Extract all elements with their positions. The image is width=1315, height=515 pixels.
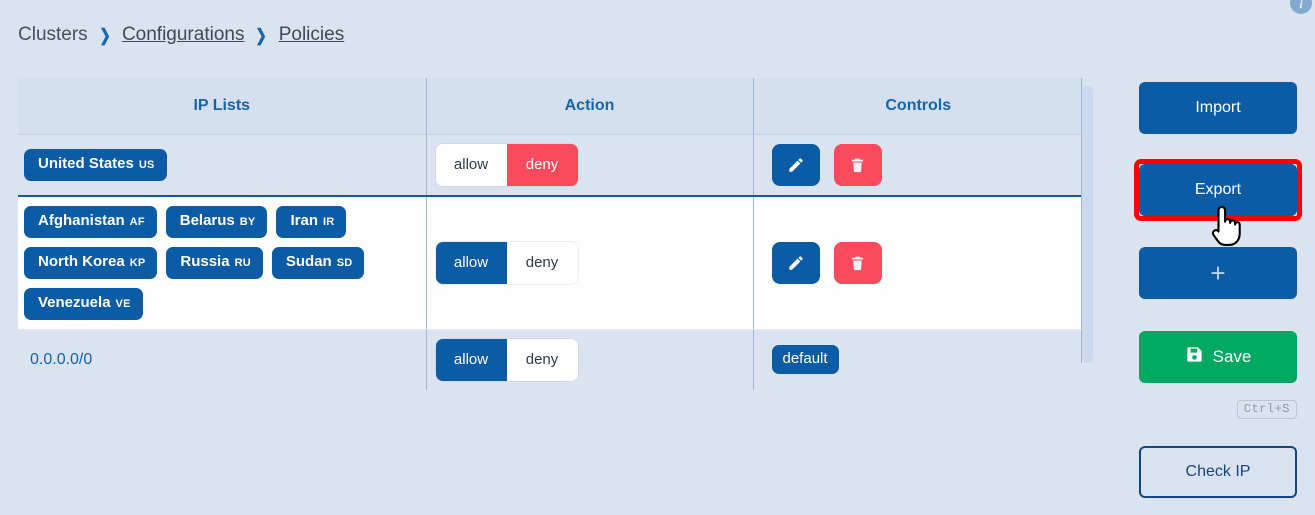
- country-chip[interactable]: BelarusBY: [166, 206, 268, 238]
- country-chip[interactable]: United StatesUS: [24, 149, 167, 181]
- country-chip[interactable]: AfghanistanAF: [24, 206, 157, 238]
- country-chip-name: Afghanistan: [38, 212, 125, 230]
- check-ip-slot: Check IP: [1139, 446, 1297, 498]
- action-allow-option[interactable]: allow: [436, 144, 507, 186]
- default-badge: default: [772, 345, 839, 374]
- action-allow-option[interactable]: allow: [436, 242, 507, 284]
- action-allow-option[interactable]: allow: [436, 339, 507, 381]
- table-row[interactable]: AfghanistanAF BelarusBY IranIR North Kor…: [18, 196, 1083, 330]
- country-chip-name: United States: [38, 155, 134, 173]
- save-slot: Save: [1139, 331, 1297, 383]
- breadcrumb-item-configurations[interactable]: Configurations: [122, 24, 245, 46]
- country-chip[interactable]: VenezuelaVE: [24, 288, 143, 320]
- ip-list-chips: AfghanistanAF BelarusBY IranIR North Kor…: [24, 206, 414, 320]
- add-slot: +: [1139, 247, 1297, 299]
- country-chip[interactable]: SudanSD: [272, 247, 365, 279]
- save-shortcut-hint: Ctrl+S: [1237, 400, 1297, 419]
- row-controls: [772, 242, 1084, 284]
- action-deny-option[interactable]: deny: [507, 242, 578, 284]
- row-controls: [772, 144, 1084, 186]
- trash-icon: [849, 156, 866, 174]
- country-chip-name: Belarus: [180, 212, 235, 230]
- breadcrumb: Clusters ❯ Configurations ❯ Policies: [18, 20, 344, 50]
- country-chip[interactable]: North KoreaKP: [24, 247, 157, 279]
- action-deny-option[interactable]: deny: [507, 144, 578, 186]
- save-button[interactable]: Save: [1139, 331, 1297, 383]
- cell-action: allow deny: [426, 196, 753, 330]
- country-chip-name: Russia: [180, 253, 229, 271]
- country-chip-code: IR: [323, 213, 334, 231]
- country-chip-name: Sudan: [286, 253, 332, 271]
- cell-ip-lists: United StatesUS: [18, 134, 426, 196]
- policies-table-container: IP Lists Action Controls United StatesUS: [18, 78, 1083, 363]
- table-header: IP Lists Action Controls: [18, 78, 1083, 134]
- cell-controls: default: [753, 329, 1083, 390]
- cell-ip-lists: 0.0.0.0/0: [18, 329, 426, 390]
- floppy-disk-icon: [1185, 345, 1204, 369]
- country-chip-code: RU: [235, 254, 251, 272]
- breadcrumb-item-clusters[interactable]: Clusters: [18, 24, 88, 46]
- cell-action: allow deny: [426, 134, 753, 196]
- country-chip-name: Venezuela: [38, 294, 111, 312]
- trash-icon: [849, 254, 866, 272]
- table-row[interactable]: United StatesUS allow deny: [18, 134, 1083, 196]
- action-toggle[interactable]: allow deny: [436, 144, 578, 186]
- cell-controls: [753, 196, 1083, 330]
- ip-list-chips: United StatesUS: [24, 149, 414, 181]
- delete-button[interactable]: [834, 242, 882, 284]
- cell-controls: [753, 134, 1083, 196]
- country-chip[interactable]: IranIR: [276, 206, 346, 238]
- country-chip-name: North Korea: [38, 253, 125, 271]
- info-icon[interactable]: i: [1290, 0, 1312, 14]
- table-scrollbar-thumb[interactable]: [1082, 86, 1093, 363]
- country-chip-code: KP: [130, 254, 146, 272]
- pencil-icon: [787, 254, 805, 272]
- column-header-action: Action: [426, 78, 753, 134]
- export-slot: Export: [1139, 164, 1297, 216]
- breadcrumb-item-policies[interactable]: Policies: [279, 24, 344, 46]
- save-button-label: Save: [1213, 347, 1252, 367]
- edit-button[interactable]: [772, 144, 820, 186]
- edit-button[interactable]: [772, 242, 820, 284]
- action-toggle[interactable]: allow deny: [436, 339, 578, 381]
- policies-table: IP Lists Action Controls United StatesUS: [18, 78, 1083, 390]
- chevron-right-icon: ❯: [256, 27, 267, 44]
- table-row[interactable]: 0.0.0.0/0 allow deny default: [18, 329, 1083, 390]
- import-button[interactable]: Import: [1139, 82, 1297, 134]
- pencil-icon: [787, 156, 805, 174]
- cell-ip-lists: AfghanistanAF BelarusBY IranIR North Kor…: [18, 196, 426, 330]
- country-chip-name: Iran: [290, 212, 318, 230]
- country-chip-code: US: [139, 156, 155, 174]
- add-policy-button[interactable]: +: [1139, 247, 1297, 299]
- action-deny-option[interactable]: deny: [507, 339, 578, 381]
- chevron-right-icon: ❯: [99, 27, 110, 44]
- country-chip-code: SD: [337, 254, 353, 272]
- country-chip-code: VE: [116, 295, 131, 313]
- country-chip[interactable]: RussiaRU: [166, 247, 263, 279]
- import-slot: Import: [1139, 82, 1297, 134]
- check-ip-button[interactable]: Check IP: [1139, 446, 1297, 498]
- column-header-controls: Controls: [753, 78, 1083, 134]
- country-chip-code: AF: [130, 213, 145, 231]
- table-body: United StatesUS allow deny: [18, 134, 1083, 390]
- delete-button[interactable]: [834, 144, 882, 186]
- action-toggle[interactable]: allow deny: [436, 242, 578, 284]
- cell-action: allow deny: [426, 329, 753, 390]
- export-button[interactable]: Export: [1139, 164, 1297, 216]
- ip-cidr-value: 0.0.0.0/0: [24, 351, 92, 368]
- country-chip-code: BY: [240, 213, 256, 231]
- column-header-ip-lists: IP Lists: [18, 78, 426, 134]
